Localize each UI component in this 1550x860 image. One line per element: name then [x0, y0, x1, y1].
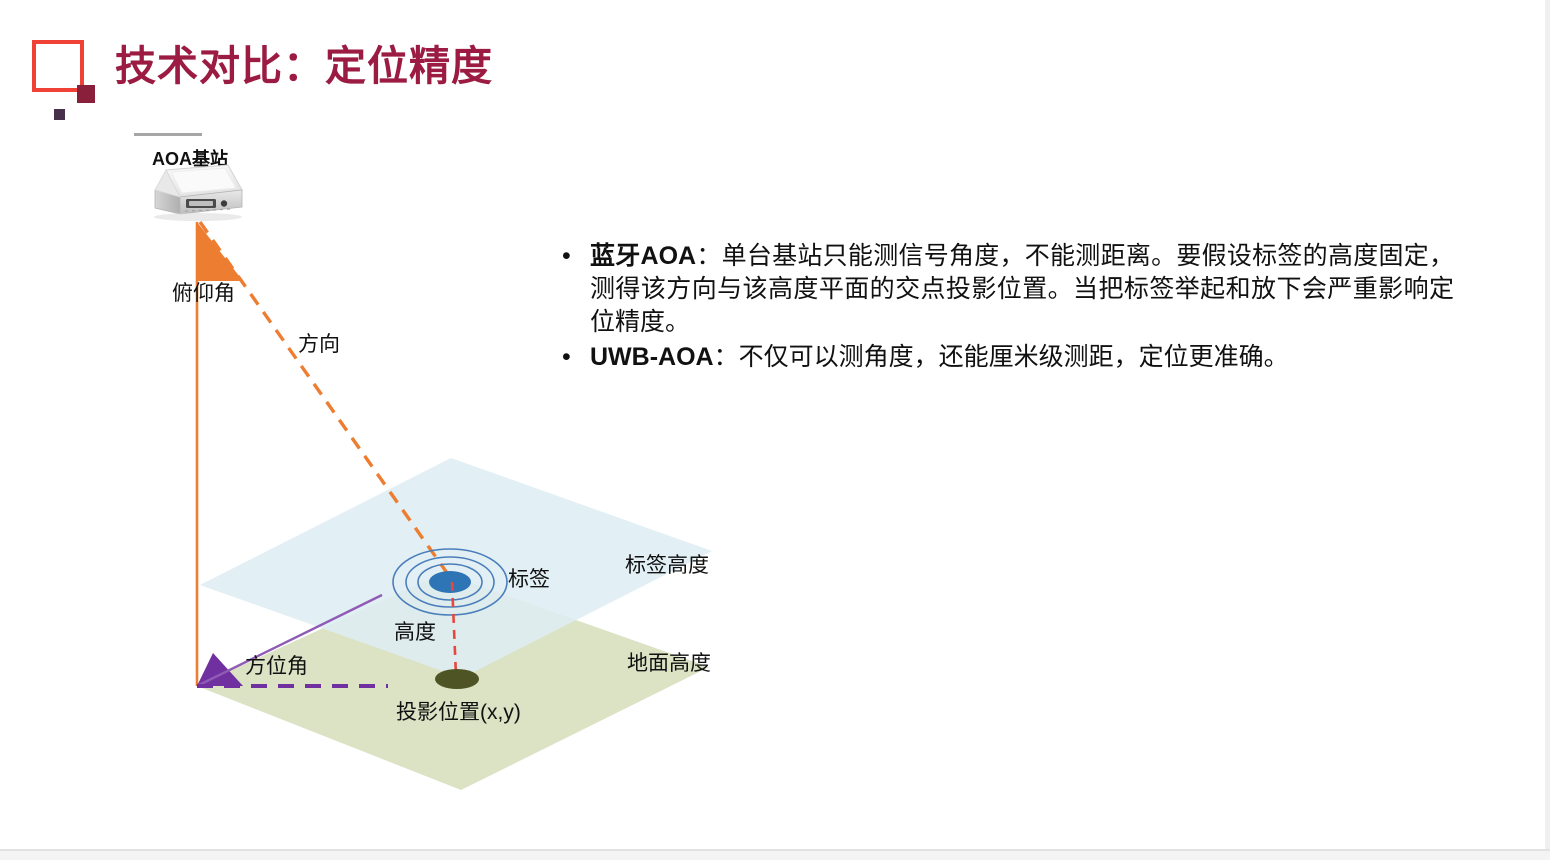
ground-plane-label: 地面高度	[627, 653, 711, 674]
direction-label: 方向	[298, 334, 340, 355]
bullet-body: ：单台基站只能测信号角度，不能测距离。要假设标签的高度固定，测得该方向与该高度平…	[590, 242, 1454, 336]
height-label: 高度	[394, 622, 436, 643]
list-item: • 蓝牙AOA：单台基站只能测信号角度，不能测距离。要假设标签的高度固定，测得该…	[556, 240, 1454, 339]
bullet-marker: •	[556, 240, 590, 273]
list-item: • UWB-AOA：不仅可以测角度，还能厘米级测距，定位更准确。	[556, 341, 1454, 374]
projection-position-label: 投影位置(x,y)	[396, 702, 521, 723]
pitch-angle-label: 俯仰角	[172, 283, 235, 304]
tag-plane-label: 标签高度	[625, 555, 709, 576]
slide-canvas: 技术对比：定位精度 AOA基站	[0, 0, 1550, 860]
bullet-text: UWB-AOA：不仅可以测角度，还能厘米级测距，定位更准确。	[590, 341, 1454, 374]
projection-marker-dot	[435, 669, 479, 689]
tag-marker-dot	[429, 571, 471, 593]
pitch-angle-wedge	[197, 222, 243, 281]
bullet-text: 蓝牙AOA：单台基站只能测信号角度，不能测距离。要假设标签的高度固定，测得该方向…	[590, 240, 1454, 339]
bullet-list: • 蓝牙AOA：单台基站只能测信号角度，不能测距离。要假设标签的高度固定，测得该…	[556, 240, 1454, 376]
bullet-marker: •	[556, 341, 590, 374]
tag-label: 标签	[508, 569, 550, 590]
bullet-body: ：不仅可以测角度，还能厘米级测距，定位更准确。	[714, 343, 1289, 371]
footer-band	[0, 851, 1550, 860]
base-station-device-image	[154, 165, 242, 221]
slide-right-edge	[1545, 0, 1550, 860]
aoa-positioning-diagram	[0, 0, 1550, 860]
bullet-lead: 蓝牙AOA	[590, 242, 696, 270]
azimuth-angle-label: 方位角	[245, 656, 308, 677]
bullet-lead: UWB-AOA	[590, 343, 714, 371]
